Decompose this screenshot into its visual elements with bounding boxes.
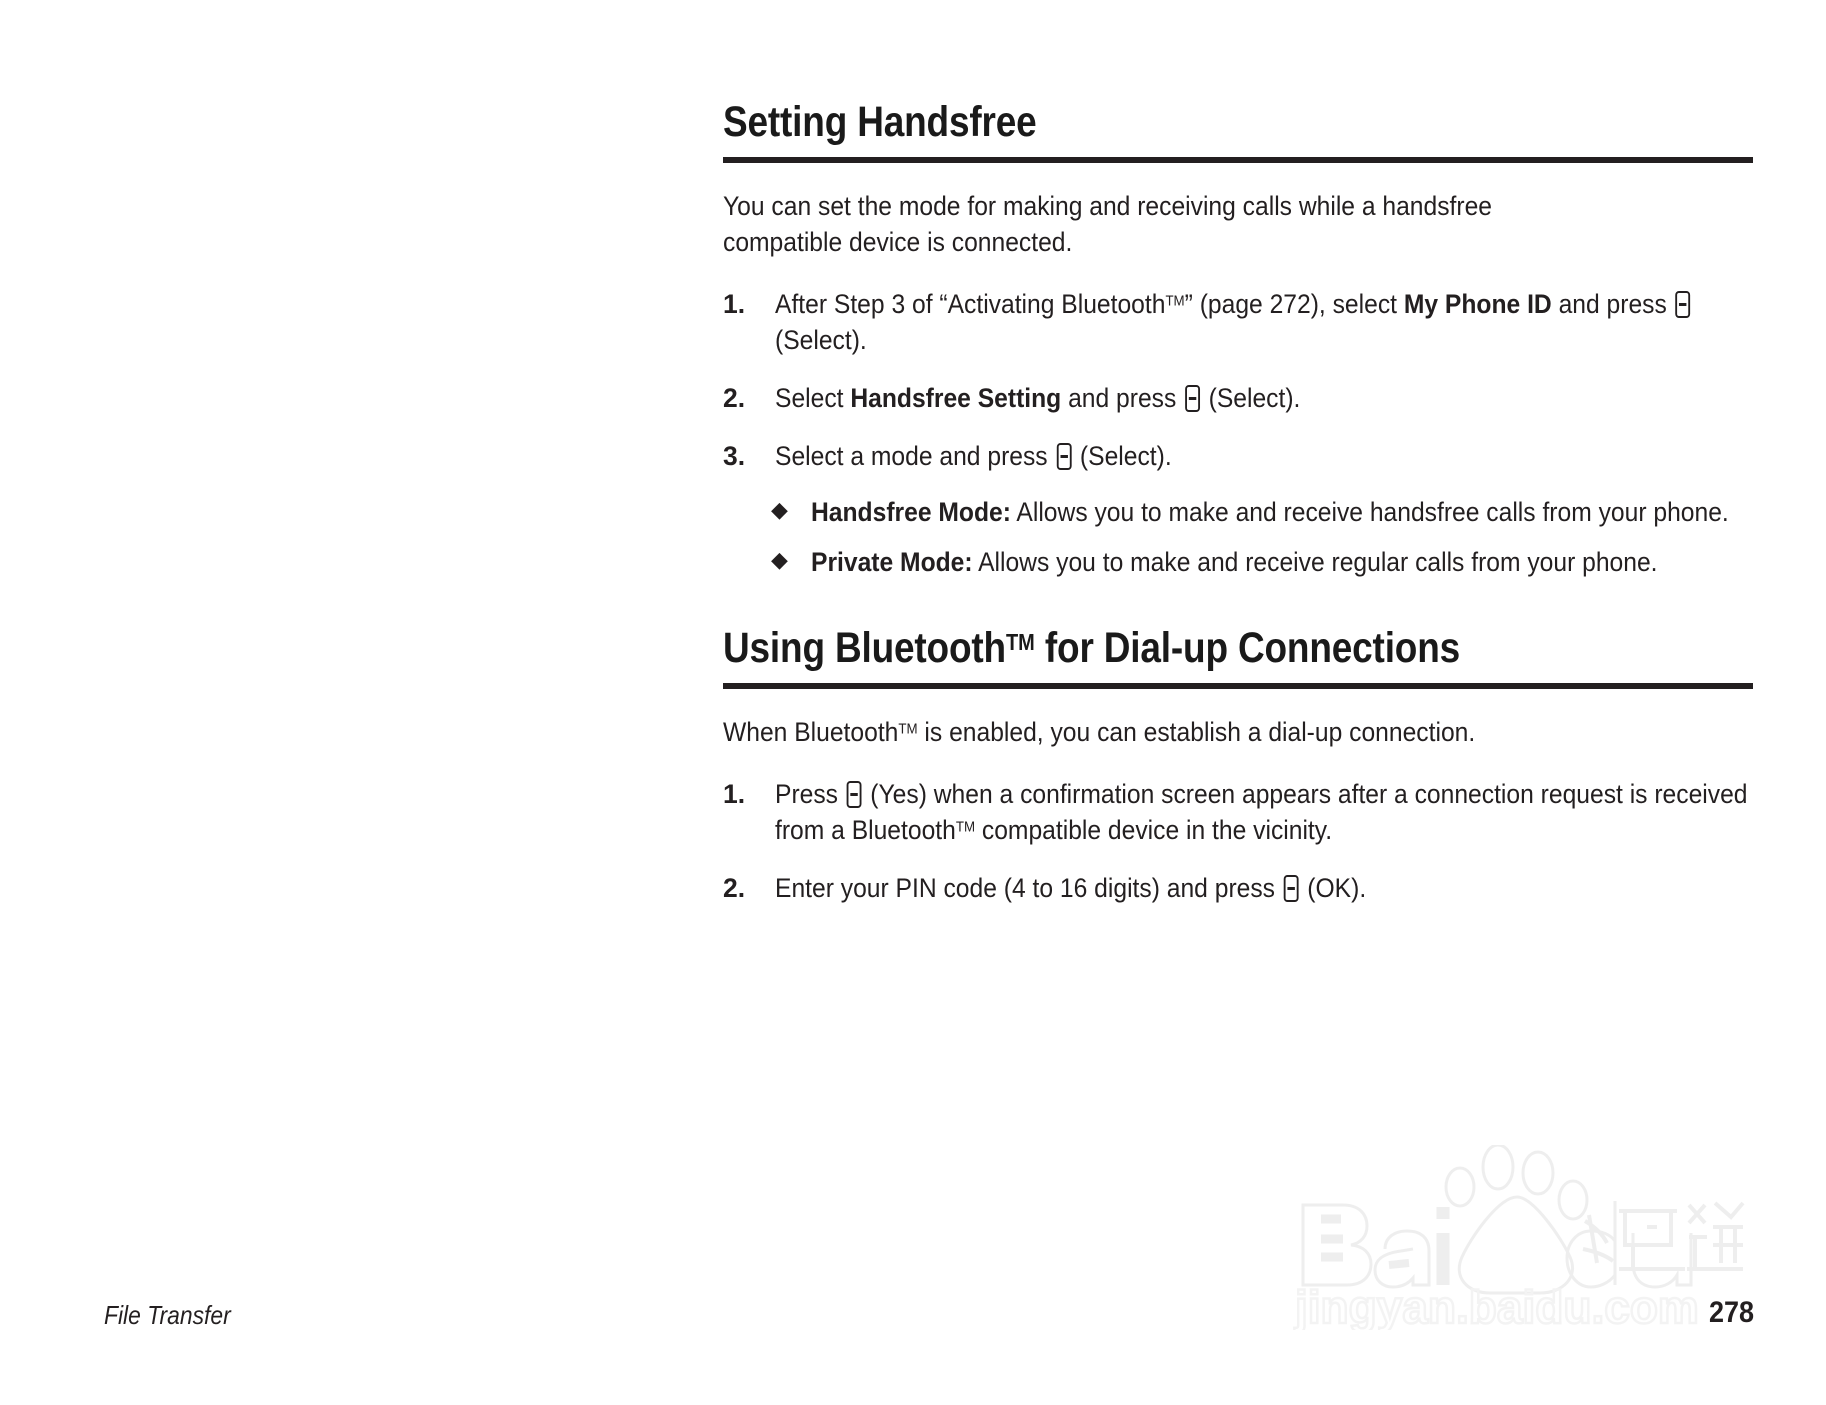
heading-text: for Dial-up Connections (1035, 624, 1460, 672)
diamond-bullet-icon: ◆ (771, 493, 788, 526)
intro-paragraph-2: When BluetoothTM is enabled, you can est… (723, 714, 1753, 750)
heading-rule (723, 683, 1753, 689)
mode-label-handsfree: Handsfree Mode: (811, 497, 1011, 527)
step-text: Select a mode and press (Select). (775, 438, 1753, 474)
heading-text: Using Bluetooth (723, 624, 1006, 672)
mode-bullet-list: ◆ Handsfree Mode: Allows you to make and… (767, 494, 1753, 580)
softkey-icon (847, 781, 862, 808)
step-text-part: (Select). (1073, 441, 1172, 471)
list-item-handsfree-mode: ◆ Handsfree Mode: Allows you to make and… (767, 494, 1753, 530)
list-item-dialup-step-1: 1. Press (Yes) when a confirmation scree… (723, 776, 1753, 848)
step-text-part: Press (775, 779, 845, 809)
softkey-icon (1676, 291, 1691, 318)
footer-chapter-label: File Transfer (104, 1300, 231, 1331)
trademark-symbol: TM (1006, 629, 1035, 655)
trademark-symbol: TM (898, 721, 917, 737)
step-text-part: (Select). (1202, 383, 1301, 413)
step-text-part: Select (775, 383, 850, 413)
list-item-private-mode: ◆ Private Mode: Allows you to make and r… (767, 544, 1753, 580)
list-item-step-2: 2. Select Handsfree Setting and press (S… (723, 380, 1753, 416)
step-text-part: and press (1061, 383, 1183, 413)
menu-name-my-phone-id: My Phone ID (1404, 289, 1552, 319)
step-text: After Step 3 of “Activating BluetoothTM”… (775, 286, 1753, 358)
step-text: Enter your PIN code (4 to 16 digits) and… (775, 870, 1753, 906)
step-number: 1. (723, 286, 745, 322)
bullet-description: Allows you to make and receive regular c… (973, 547, 1658, 577)
step-text: Select Handsfree Setting and press (Sele… (775, 380, 1753, 416)
step-text-part: Enter your PIN code (4 to 16 digits) and… (775, 873, 1282, 903)
bullet-description: Allows you to make and receive handsfree… (1011, 497, 1729, 527)
page-number: 278 (1709, 1296, 1754, 1330)
menu-name-handsfree-setting: Handsfree Setting (850, 383, 1061, 413)
list-item-step-3: 3. Select a mode and press (Select). (723, 438, 1753, 474)
step-number: 2. (723, 380, 745, 416)
bullet-text: Handsfree Mode: Allows you to make and r… (811, 494, 1753, 530)
step-text-part: (OK). (1300, 873, 1366, 903)
trademark-symbol: TM (1165, 293, 1184, 309)
diamond-bullet-icon: ◆ (771, 543, 788, 576)
step-text-part: After Step 3 of “Activating Bluetooth (775, 289, 1165, 319)
intro-text-part: When Bluetooth (723, 717, 898, 747)
list-item-step-1: 1. After Step 3 of “Activating Bluetooth… (723, 286, 1753, 358)
softkey-icon (1284, 875, 1299, 902)
intro-text-part: is enabled, you can establish a dial-up … (918, 717, 1476, 747)
step-number: 2. (723, 870, 745, 906)
watermark-url: jingyan.baidu.com (1294, 1281, 1699, 1330)
intro-paragraph-1: You can set the mode for making and rece… (723, 188, 1579, 260)
step-text-part: compatible device in the vicinity. (975, 815, 1332, 845)
manual-page: Setting Handsfree You can set the mode f… (0, 0, 1826, 1405)
baidu-watermark: jingyan.baidu.com (1285, 1145, 1745, 1330)
heading-text: Setting Handsfree (723, 98, 1037, 146)
step-text-part: Select a mode and press (775, 441, 1054, 471)
step-number: 3. (723, 438, 745, 474)
steps-list-setting-handsfree: 1. After Step 3 of “Activating Bluetooth… (723, 286, 1753, 474)
list-item-dialup-step-2: 2. Enter your PIN code (4 to 16 digits) … (723, 870, 1753, 906)
section-heading-block-1: Setting Handsfree (723, 100, 1753, 163)
softkey-icon (1056, 443, 1071, 470)
step-text: Press (Yes) when a confirmation screen a… (775, 776, 1753, 848)
page-title-using-bluetooth-dialup: Using BluetoothTM for Dial-up Connection… (723, 626, 1609, 671)
softkey-icon (1185, 385, 1200, 412)
steps-list-dialup: 1. Press (Yes) when a confirmation scree… (723, 776, 1753, 906)
section-heading-block-2: Using BluetoothTM for Dial-up Connection… (723, 626, 1753, 689)
trademark-symbol: TM (956, 819, 975, 835)
step-text-part: and press (1552, 289, 1674, 319)
content-column: Setting Handsfree You can set the mode f… (723, 100, 1753, 906)
mode-label-private: Private Mode: (811, 547, 973, 577)
heading-rule (723, 157, 1753, 163)
step-text-part: (Select). (775, 325, 867, 355)
step-number: 1. (723, 776, 745, 812)
page-title-setting-handsfree: Setting Handsfree (723, 100, 1609, 145)
bullet-text: Private Mode: Allows you to make and rec… (811, 544, 1753, 580)
step-text-part: ” (page 272), select (1185, 289, 1404, 319)
